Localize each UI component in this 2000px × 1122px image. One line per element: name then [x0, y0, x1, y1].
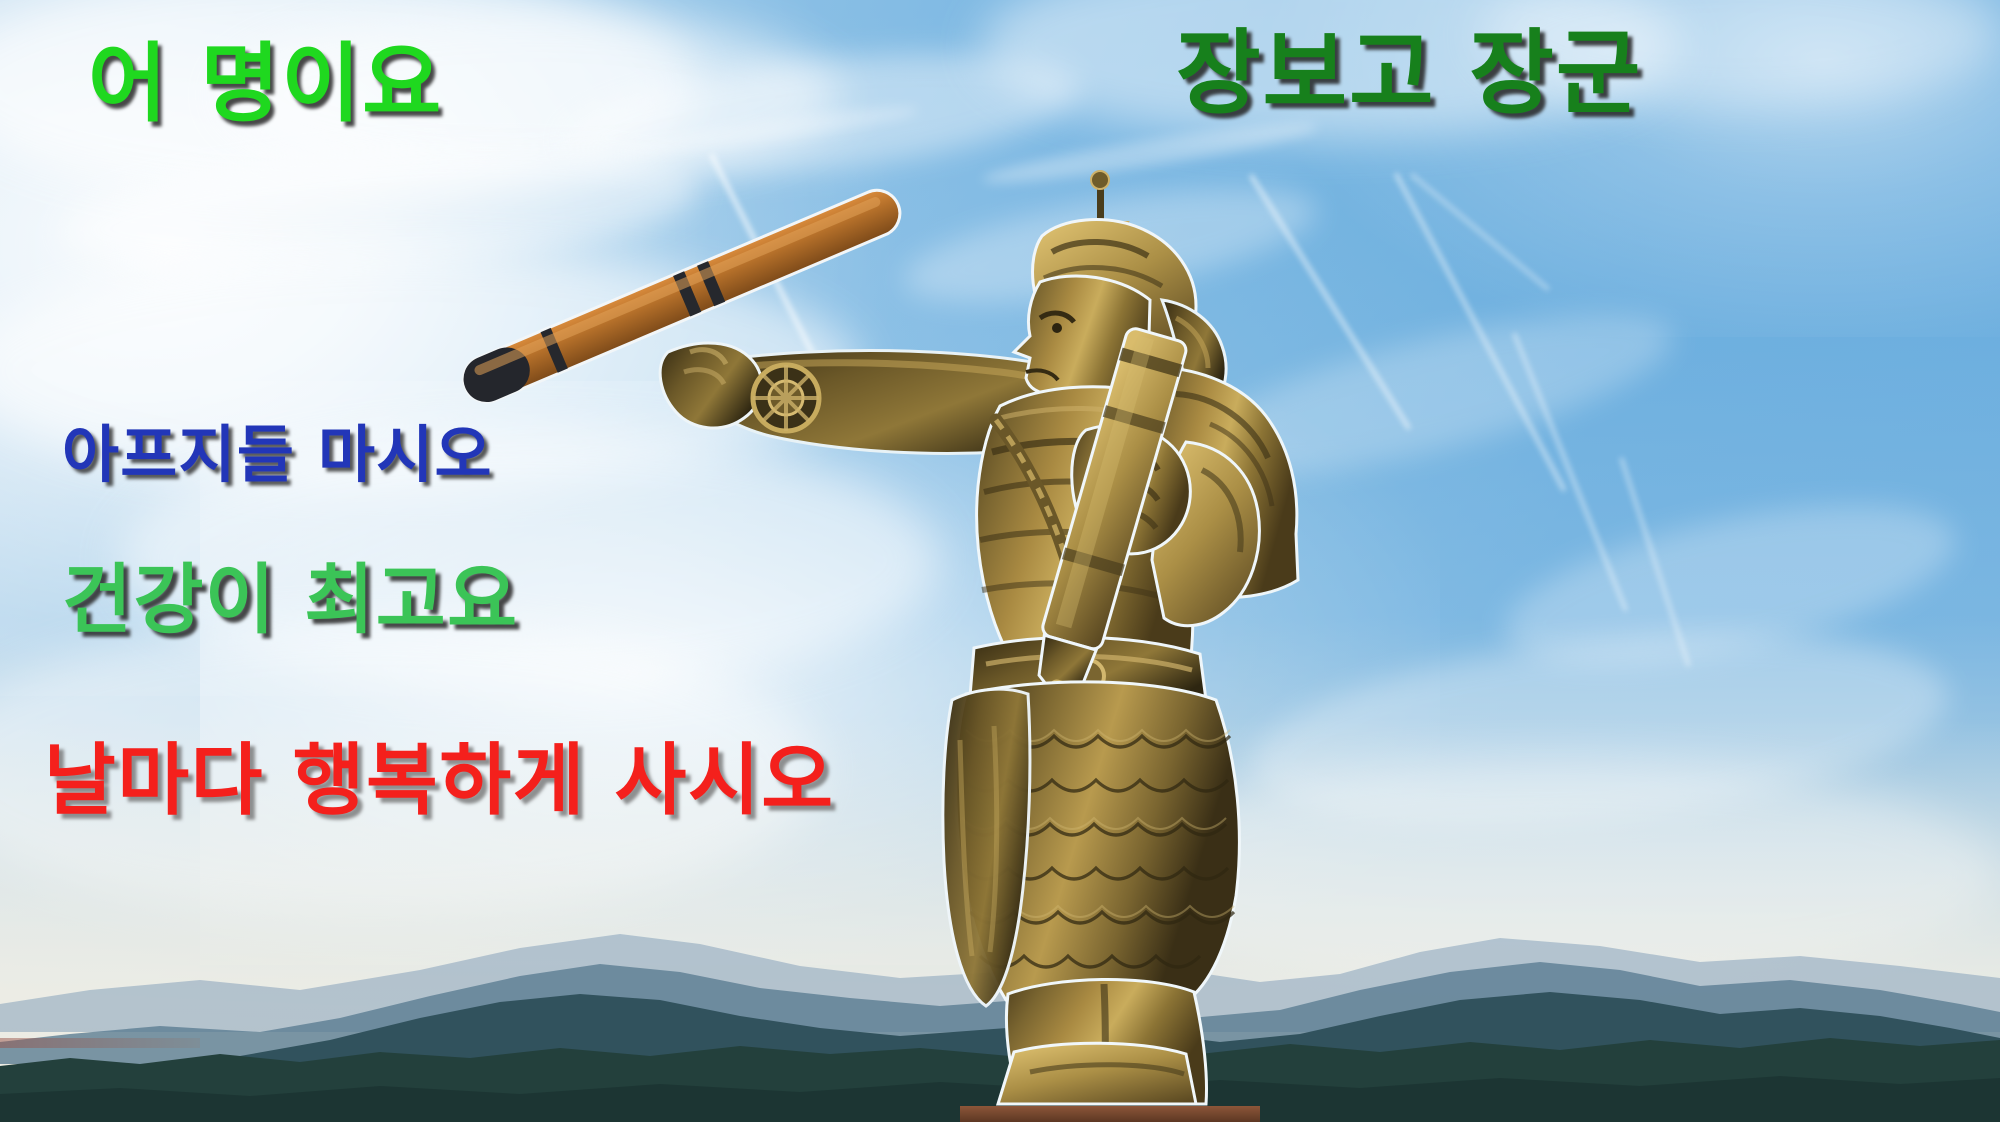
caption-jangbogo-janggun: 장보고 장군 [1176, 28, 1642, 120]
caption-geongangi-choegoyo: 건강이 최고요 [62, 562, 519, 638]
foreground-forest-ridge [0, 1002, 2000, 1122]
distant-shoreline [0, 1038, 200, 1048]
caption-myeong: 어 명이요 [88, 41, 443, 127]
caption-nalmada-haengbokhage-sasio: 날마다 행복하게 사시오 [44, 742, 835, 820]
screenshot-canvas: 어 명이요 장보고 장군 아프지들 마시오 건강이 최고요 날마다 행복하게 사… [0, 0, 2000, 1122]
caption-apeujideul-masio: 아프지들 마시오 [62, 424, 493, 486]
